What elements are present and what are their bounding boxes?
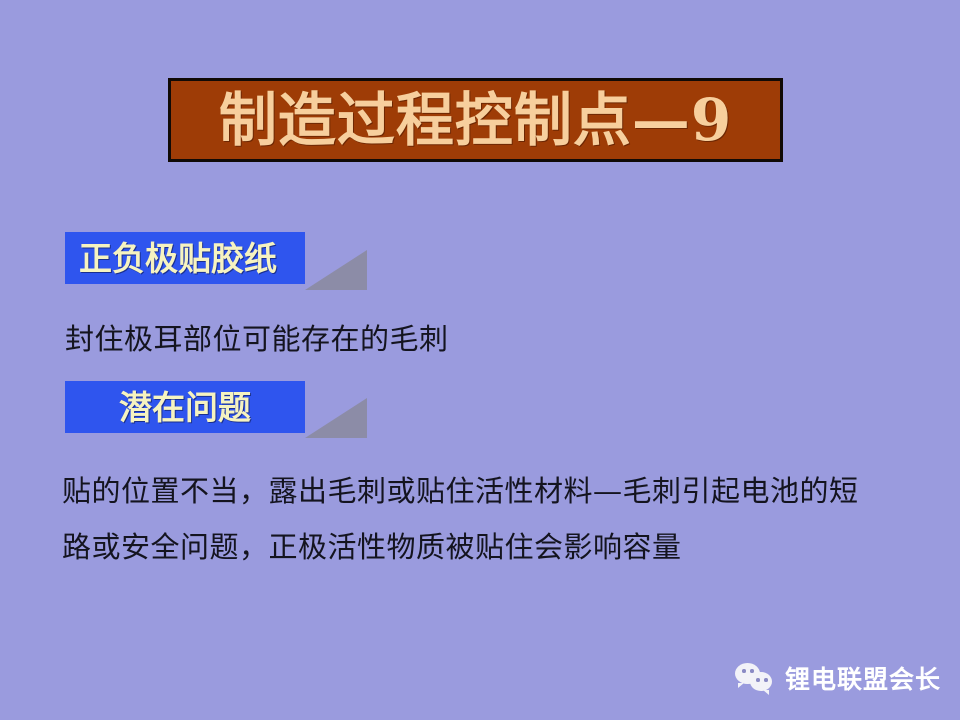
wechat-dot — [756, 678, 760, 682]
page-title: 制造过程控制点—9 — [219, 91, 732, 149]
wechat-bubble-small — [750, 672, 772, 691]
section-label-1: 正负极贴胶纸 — [79, 242, 277, 275]
wechat-dot — [742, 669, 746, 673]
banner-fold-shadow-icon-1 — [305, 250, 367, 290]
slide-title-banner: 制造过程控制点—9 — [168, 78, 783, 162]
wechat-logo-icon — [735, 661, 777, 695]
section-label-banner-2: 潜在问题 — [65, 381, 305, 433]
section-body-line-3: 路或安全问题，正极活性物质被贴住会影响容量 — [62, 524, 682, 566]
section-label-2: 潜在问题 — [119, 391, 251, 424]
wechat-dot — [764, 678, 768, 682]
watermark: 锂电联盟会长 — [735, 660, 941, 696]
section-label-banner-1: 正负极贴胶纸 — [65, 232, 305, 284]
slide-canvas: 制造过程控制点—9 正负极贴胶纸 封住极耳部位可能存在的毛刺 潜在问题 贴的位置… — [0, 0, 960, 720]
section-body-line-2: 贴的位置不当，露出毛刺或贴住活性材料—毛刺引起电池的短 — [62, 468, 859, 510]
watermark-label: 锂电联盟会长 — [785, 660, 941, 696]
wechat-dot — [750, 669, 754, 673]
section-body-line-1: 封住极耳部位可能存在的毛刺 — [65, 316, 449, 358]
banner-fold-shadow-icon-2 — [305, 398, 367, 438]
